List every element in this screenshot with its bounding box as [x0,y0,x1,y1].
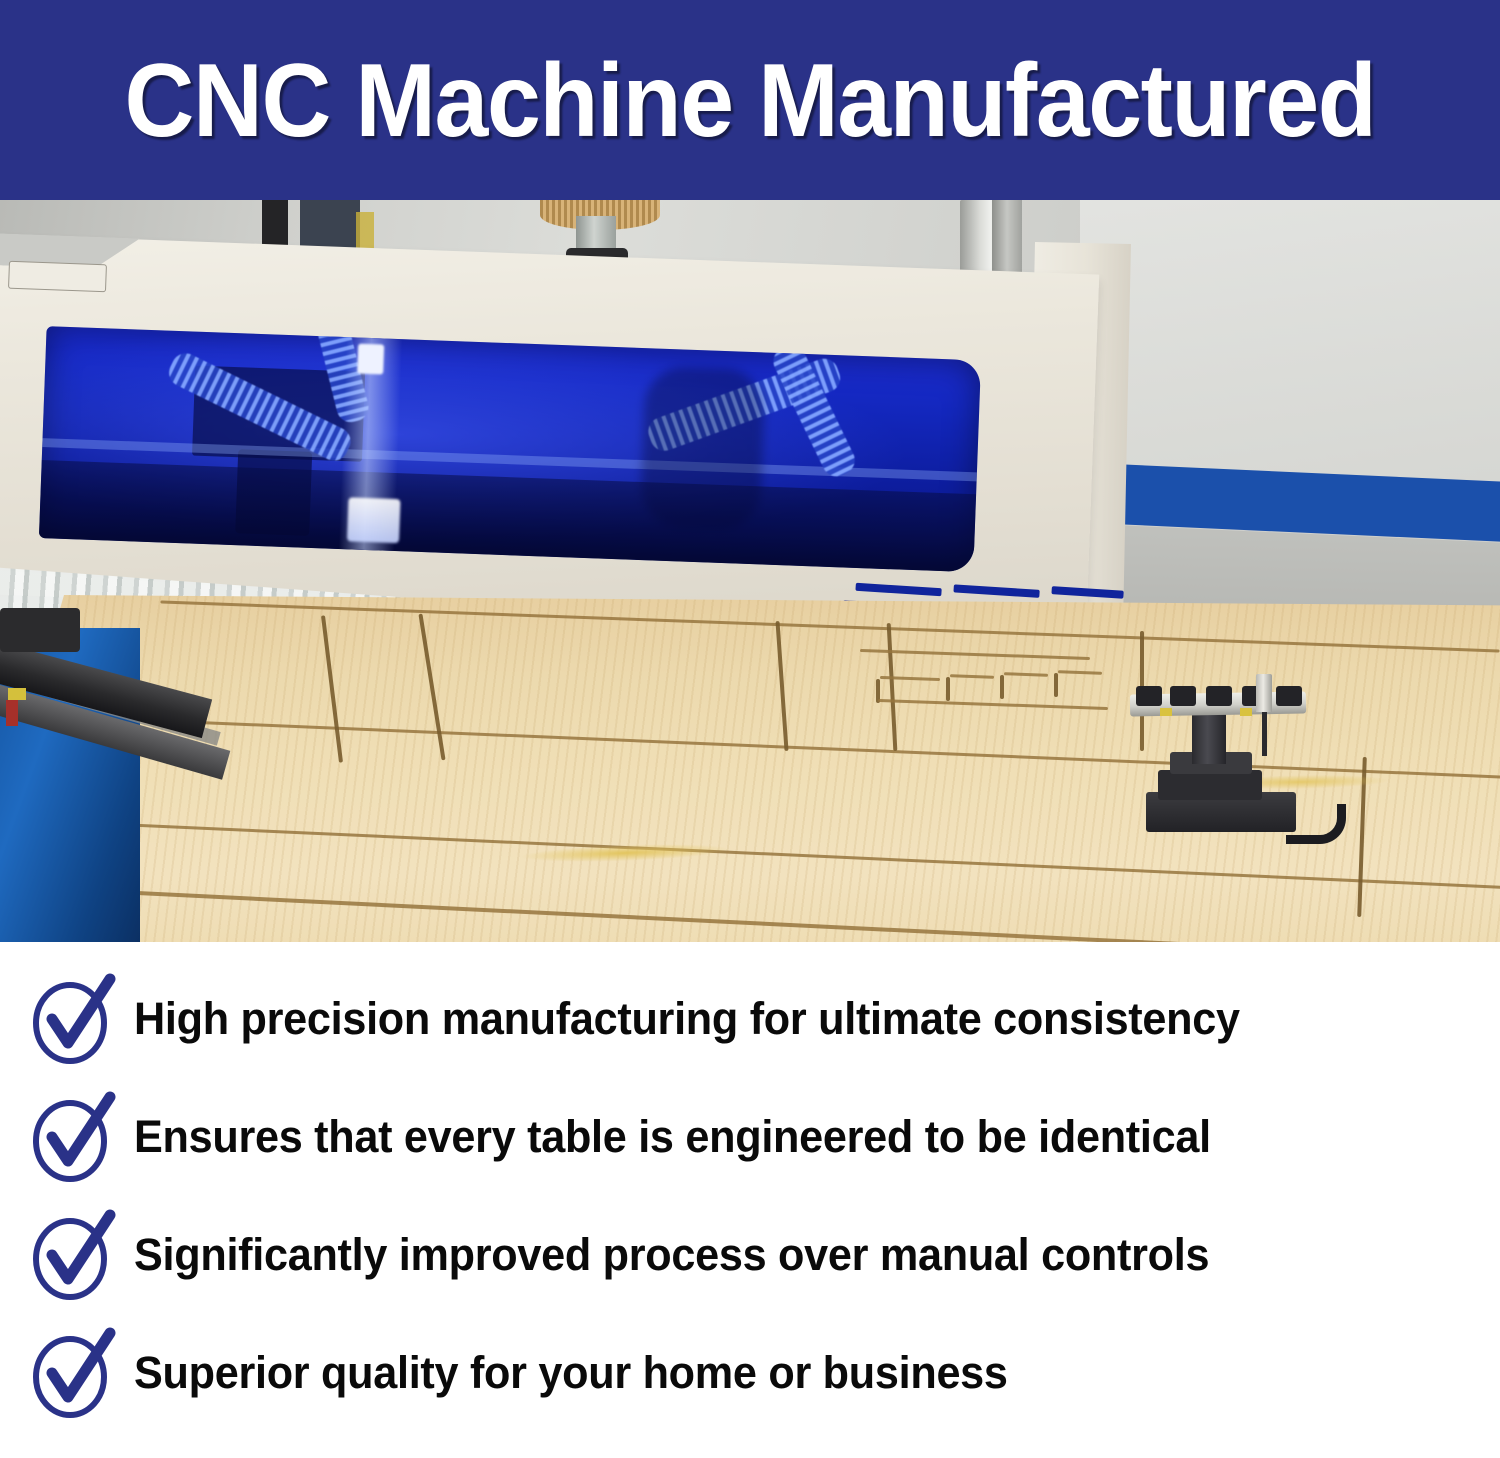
cutting-tool [1256,674,1272,712]
list-item: High precision manufacturing for ultimat… [0,960,1500,1078]
window-specular-top [357,344,384,375]
window-specular-bottom [347,497,401,543]
tool-holder [1170,686,1196,706]
check-circle-icon [30,1209,116,1301]
machine-bearing-block [0,608,80,652]
cnc-cut-pocket [1054,673,1058,697]
cutting-tool-tip [1262,712,1267,756]
panel-vent-slot [855,583,941,597]
check-circle-icon [30,973,116,1065]
list-item: Significantly improved process over manu… [0,1196,1500,1314]
feature-list: High precision manufacturing for ultimat… [0,960,1500,1458]
tool-rack-label [1240,708,1252,716]
machine-blue-window [39,326,981,572]
check-circle-icon [30,1327,116,1419]
duct-neck [576,216,616,252]
list-item: Ensures that every table is engineered t… [0,1078,1500,1196]
list-item-label: Ensures that every table is engineered t… [134,1111,1211,1163]
product-feature-card: CNC Machine Manufactured [0,0,1500,1458]
machine-nameplate [8,261,107,293]
tool-rack-label [1160,708,1172,716]
cnc-machine-photo [0,200,1500,942]
tool-changer-post [1192,708,1226,764]
list-item-label: Significantly improved process over manu… [134,1229,1209,1281]
machine-red-indicator [6,700,18,726]
machine-gantry-housing [0,234,1099,634]
list-item: Superior quality for your home or busine… [0,1314,1500,1432]
header-banner: CNC Machine Manufactured [0,0,1500,200]
tool-changer-base-upper [1158,770,1262,800]
cnc-cut-pocket [1000,675,1004,699]
ceiling-structure [300,200,360,248]
check-circle-icon [30,1091,116,1183]
tool-holder [1206,686,1232,706]
cnc-cut-pocket [946,677,950,701]
list-item-label: High precision manufacturing for ultimat… [134,993,1240,1045]
tool-holder [1136,686,1162,706]
machine-yellow-marker [8,688,26,700]
panel-vent-slot [953,584,1039,598]
page-title: CNC Machine Manufactured [53,26,1448,176]
list-item-label: Superior quality for your home or busine… [134,1347,1008,1399]
tool-holder [1276,686,1302,706]
